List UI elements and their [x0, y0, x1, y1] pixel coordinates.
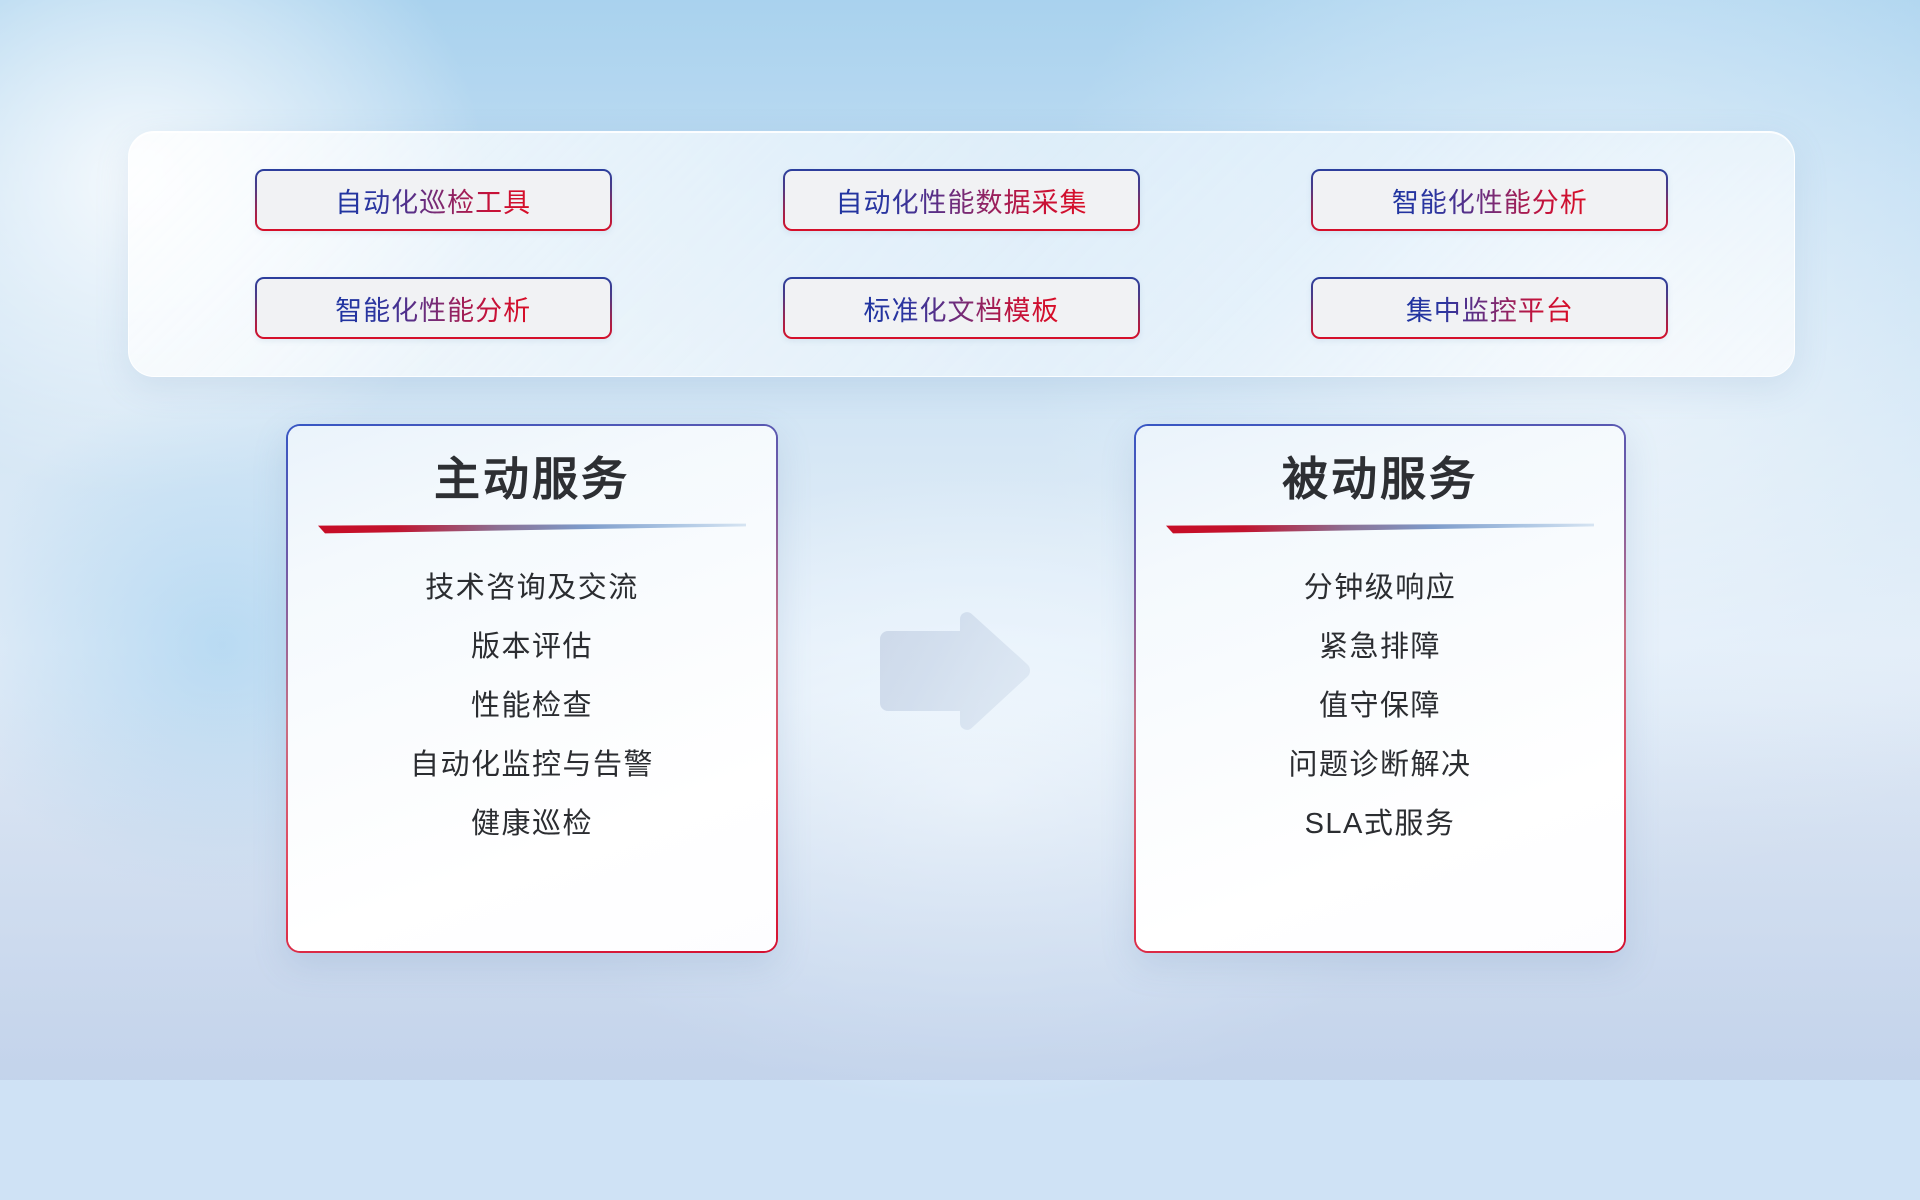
- service-card-inner: 被动服务 分钟级响应 紧急排障 值守保障: [1136, 426, 1624, 951]
- service-card-list: 分钟级响应 紧急排障 值守保障 问题诊断解决 SLA式服务: [1136, 559, 1624, 854]
- list-item: 技术咨询及交流: [425, 559, 639, 618]
- service-card-title: 主动服务: [434, 453, 630, 506]
- list-item: 自动化监控与告警: [410, 736, 654, 795]
- capability-pill[interactable]: 标准化文档模板: [783, 277, 1140, 339]
- arrow-right-icon: [874, 612, 1034, 730]
- capability-pill-label: 自动化巡检工具: [335, 181, 531, 220]
- capability-pill[interactable]: 智能化性能分析: [1311, 169, 1668, 231]
- list-item: 值守保障: [1319, 677, 1441, 736]
- title-divider: [1166, 523, 1594, 534]
- capability-pill-label: 智能化性能分析: [335, 289, 531, 328]
- capability-pill-label: 自动化性能数据采集: [835, 181, 1087, 220]
- list-item: 问题诊断解决: [1288, 736, 1471, 795]
- service-card-active: 主动服务 技术咨询及交流 版本评估 性能检查: [286, 424, 778, 953]
- service-card-list: 技术咨询及交流 版本评估 性能检查 自动化监控与告警 健康巡检: [288, 559, 776, 854]
- list-item: 版本评估: [471, 618, 593, 677]
- capability-pill[interactable]: 自动化性能数据采集: [783, 169, 1140, 231]
- title-divider: [318, 523, 746, 534]
- service-card-title: 被动服务: [1282, 453, 1478, 506]
- list-item: 健康巡检: [471, 795, 593, 854]
- capability-pill[interactable]: 自动化巡检工具: [255, 169, 612, 231]
- service-card-inner: 主动服务 技术咨询及交流 版本评估 性能检查: [288, 426, 776, 951]
- capability-pill-label: 智能化性能分析: [1392, 181, 1588, 220]
- list-item: 紧急排障: [1319, 618, 1441, 677]
- service-card-passive: 被动服务 分钟级响应 紧急排障 值守保障: [1134, 424, 1626, 953]
- capability-pill[interactable]: 智能化性能分析: [255, 277, 612, 339]
- capability-pill-label: 集中监控平台: [1406, 289, 1574, 328]
- list-item: 分钟级响应: [1304, 559, 1457, 618]
- capability-pill-label: 标准化文档模板: [863, 289, 1059, 328]
- list-item: SLA式服务: [1305, 795, 1456, 854]
- capability-pill[interactable]: 集中监控平台: [1311, 277, 1668, 339]
- capability-pill-panel: 自动化巡检工具 自动化性能数据采集 智能化性能分析 智能化性能分析 标准化文档模…: [128, 131, 1795, 377]
- capability-pill-grid: 自动化巡检工具 自动化性能数据采集 智能化性能分析 智能化性能分析 标准化文档模…: [129, 132, 1794, 376]
- list-item: 性能检查: [471, 677, 593, 736]
